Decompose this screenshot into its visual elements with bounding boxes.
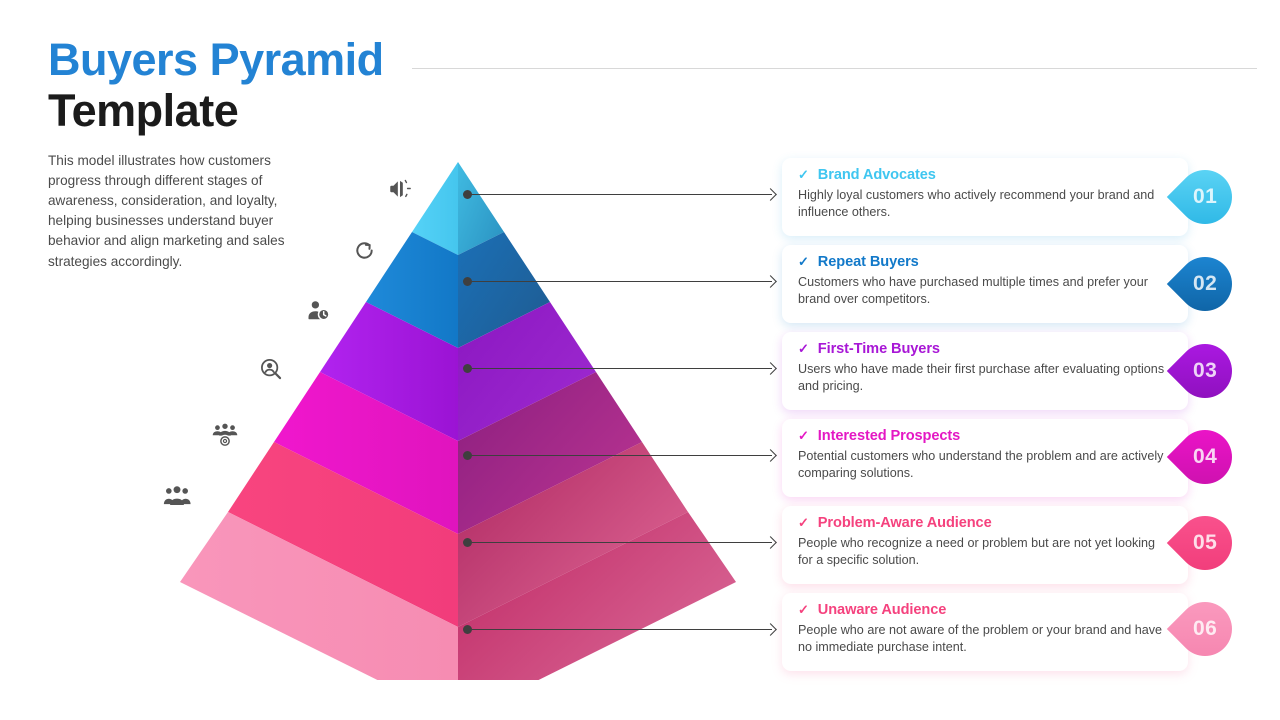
level-description-1: Highly loyal customers who actively reco… <box>798 187 1172 222</box>
level-card-2[interactable]: ✓ Repeat Buyers Customers who have purch… <box>782 245 1188 323</box>
connector-stroke-3 <box>470 368 772 369</box>
level-card-title-row-1: ✓ Brand Advocates <box>798 167 1172 183</box>
connector-arrow-4 <box>764 449 777 462</box>
level-title-6: Unaware Audience <box>818 602 946 618</box>
connector-arrow-2 <box>764 275 777 288</box>
check-icon-2: ✓ <box>798 254 809 270</box>
level-card-4[interactable]: ✓ Interested Prospects Potential custome… <box>782 419 1188 497</box>
level-card-title-row-2: ✓ Repeat Buyers <box>798 254 1172 270</box>
level-card-title-row-5: ✓ Problem-Aware Audience <box>798 515 1172 531</box>
connector-line-2 <box>463 275 778 289</box>
connector-arrow-6 <box>764 623 777 636</box>
connector-arrow-3 <box>764 362 777 375</box>
level-description-4: Potential customers who understand the p… <box>798 448 1172 483</box>
connector-stroke-2 <box>470 281 772 282</box>
connector-line-3 <box>463 362 778 376</box>
check-icon-6: ✓ <box>798 602 809 618</box>
level-card-6[interactable]: ✓ Unaware Audience People who are not aw… <box>782 593 1188 671</box>
connector-arrow-5 <box>764 536 777 549</box>
check-icon-1: ✓ <box>798 167 809 183</box>
check-icon-4: ✓ <box>798 428 809 444</box>
connector-line-6 <box>463 623 778 637</box>
pyramid-diagram <box>170 150 750 680</box>
user-clock-icon <box>301 293 335 327</box>
check-icon-5: ✓ <box>798 515 809 531</box>
page-title-secondary: Template <box>48 85 468 136</box>
pyramid-right-face <box>458 162 736 680</box>
level-card-title-row-3: ✓ First-Time Buyers <box>798 341 1172 357</box>
level-title-2: Repeat Buyers <box>818 254 919 270</box>
level-card-3[interactable]: ✓ First-Time Buyers Users who have made … <box>782 332 1188 410</box>
level-card-1[interactable]: ✓ Brand Advocates Highly loyal customers… <box>782 158 1188 236</box>
level-card-title-row-4: ✓ Interested Prospects <box>798 428 1172 444</box>
repeat-arrow-icon <box>347 233 381 267</box>
connector-line-1 <box>463 188 778 202</box>
level-description-2: Customers who have purchased multiple ti… <box>798 274 1172 309</box>
level-number-6: 06 <box>1193 617 1217 641</box>
connector-stroke-4 <box>470 455 772 456</box>
pyramid-svg <box>170 150 750 680</box>
level-number-1: 01 <box>1193 185 1217 209</box>
audience-target-icon <box>208 418 242 452</box>
connector-stroke-6 <box>470 629 772 630</box>
slide-canvas: Buyers Pyramid Template This model illus… <box>0 0 1280 720</box>
level-number-4: 04 <box>1193 445 1217 469</box>
people-group-icon <box>160 480 194 514</box>
level-description-5: People who recognize a need or problem b… <box>798 535 1172 570</box>
level-description-3: Users who have made their first purchase… <box>798 361 1172 396</box>
connector-stroke-1 <box>470 194 772 195</box>
page-title-primary: Buyers Pyramid <box>48 36 468 85</box>
connector-stroke-5 <box>470 542 772 543</box>
level-title-1: Brand Advocates <box>818 167 936 183</box>
user-search-icon <box>254 352 288 386</box>
level-number-3: 03 <box>1193 359 1217 383</box>
page-header: Buyers Pyramid Template <box>48 36 468 136</box>
level-description-6: People who are not aware of the problem … <box>798 622 1172 657</box>
megaphone-icon <box>383 172 417 206</box>
connector-line-5 <box>463 536 778 550</box>
level-title-3: First-Time Buyers <box>818 341 940 357</box>
level-number-5: 05 <box>1193 531 1217 555</box>
check-icon-3: ✓ <box>798 341 809 357</box>
level-card-title-row-6: ✓ Unaware Audience <box>798 602 1172 618</box>
level-title-5: Problem-Aware Audience <box>818 515 992 531</box>
level-number-2: 02 <box>1193 272 1217 296</box>
level-card-5[interactable]: ✓ Problem-Aware Audience People who reco… <box>782 506 1188 584</box>
connector-line-4 <box>463 449 778 463</box>
level-title-4: Interested Prospects <box>818 428 960 444</box>
connector-arrow-1 <box>764 188 777 201</box>
header-divider <box>412 68 1257 69</box>
